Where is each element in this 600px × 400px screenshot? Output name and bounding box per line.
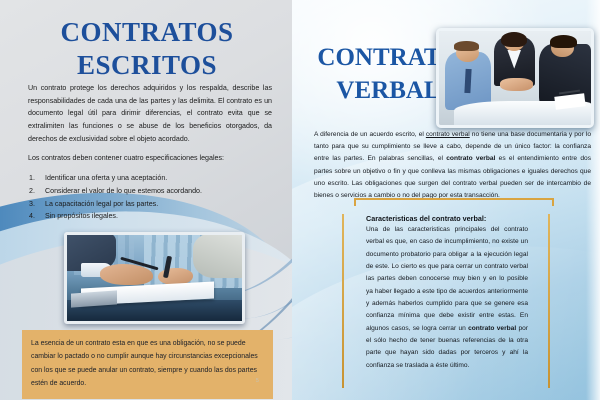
list-item: 3. La capacitación legal por las partes. [28,198,272,211]
left-page-number: 5 [256,378,259,384]
characteristics-block: Caracteristicas del contrato verbal: Una… [342,214,550,388]
gold-bracket-divider [354,198,554,206]
necktie-shape [464,68,471,93]
person-right-hair [550,35,577,48]
left-list-intro: Los contratos deben contener cuatro espe… [28,152,272,165]
list-item-number: 1. [29,172,35,185]
gold-rule-right [548,214,550,388]
left-title-line-1: CONTRATOS [60,17,233,47]
list-item: 2. Considerar el valor de lo que estemos… [28,185,272,198]
characteristics-bold-term: contrato verbal [468,325,516,332]
right-page: CONTRATO VERBAL A diferencia de un acuer… [292,0,600,400]
list-item-number: 3. [29,198,35,211]
left-title-line-2: ESCRITOS [18,49,276,82]
left-callout-box: La esencia de un contrato esta en que es… [22,330,273,399]
legal-specifications-list: 1. Identificar una oferta y una aceptaci… [28,172,272,224]
person-center-hair [501,32,527,47]
left-paragraph-1: Un contrato protege los derechos adquiri… [28,82,272,145]
list-item-label: Considerar el valor de lo que estemos ac… [45,187,202,195]
list-item: 1. Identificar una oferta y una aceptaci… [28,172,272,185]
handshake-shape [500,78,533,91]
contract-signing-photo [64,232,245,324]
characteristics-text: Una de las caracteristicas principales d… [366,224,528,372]
handshake-meeting-photo [436,28,594,128]
list-item-label: La capacitación legal por las partes. [45,200,158,208]
list-item-label: Sin propósitos ilegales. [45,212,118,220]
right-body-text: A diferencia de un acuerdo escrito, el c… [314,129,591,202]
left-page-title: CONTRATOS ESCRITOS [18,16,276,82]
right-bold-term: contrato verbal [446,155,495,162]
person-left-hair [454,41,478,50]
list-item-label: Identificar una oferta y una aceptación. [45,174,167,182]
list-item-number: 4. [29,210,35,223]
characteristics-heading: Caracteristicas del contrato verbal: [366,214,528,223]
list-item-number: 2. [29,185,35,198]
hand-shape-left [100,264,153,285]
right-title-line-2: VERBAL [336,77,440,104]
arm-shape-right [193,233,245,278]
characteristics-part-1: Una de las caracteristicas principales d… [366,226,528,332]
right-paragraph-part-1: A diferencia de un acuerdo escrito, el [314,131,426,138]
left-page: CONTRATOS ESCRITOS Un contrato protege l… [0,0,292,400]
laptop-shape [71,290,117,307]
right-underlined-term: contrato verbal [426,131,470,138]
list-item: 4. Sin propósitos ilegales. [28,210,272,223]
left-body-text: Un contrato protege los derechos adquiri… [28,82,272,223]
gold-rule-left [342,214,344,388]
brochure-spread: CONTRATOS ESCRITOS Un contrato protege l… [0,0,600,400]
